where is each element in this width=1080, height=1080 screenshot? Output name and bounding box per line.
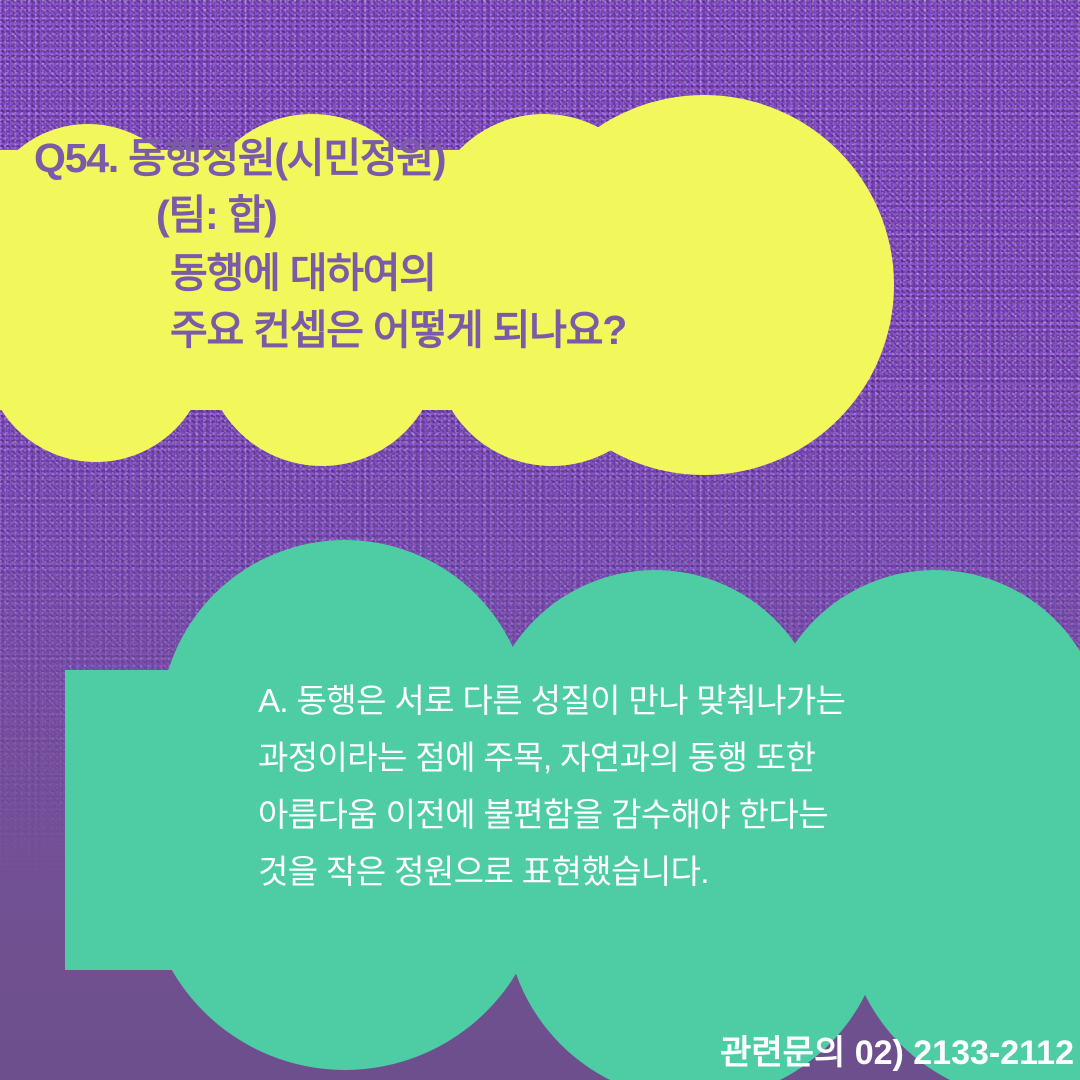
- answer-line-1: A. 동행은 서로 다른 성질이 만나 맞춰나가는: [258, 672, 1058, 729]
- answer-line-2: 과정이라는 점에 주목, 자연과의 동행 또한: [258, 729, 1058, 786]
- qa-card: Q54. 동행정원(시민정원) (팀: 합) 동행에 대하여의 주요 컨셉은 어…: [0, 0, 1080, 1080]
- question-line-1: Q54. 동행정원(시민정원): [34, 130, 880, 187]
- question-text-block: Q54. 동행정원(시민정원) (팀: 합) 동행에 대하여의 주요 컨셉은 어…: [0, 130, 880, 360]
- question-line-3: 동행에 대하여의: [34, 245, 880, 302]
- contact-footer: 관련문의 02) 2133-2112: [720, 1025, 1074, 1074]
- answer-line-3: 아름다움 이전에 불편함을 감수해야 한다는: [258, 786, 1058, 843]
- question-line-4: 주요 컨셉은 어떻게 되나요?: [34, 302, 880, 359]
- answer-line-4: 것을 작은 정원으로 표현했습니다.: [258, 843, 1058, 900]
- answer-text-block: A. 동행은 서로 다른 성질이 만나 맞춰나가는 과정이라는 점에 주목, 자…: [258, 672, 1058, 900]
- question-line-2: (팀: 합): [34, 187, 880, 244]
